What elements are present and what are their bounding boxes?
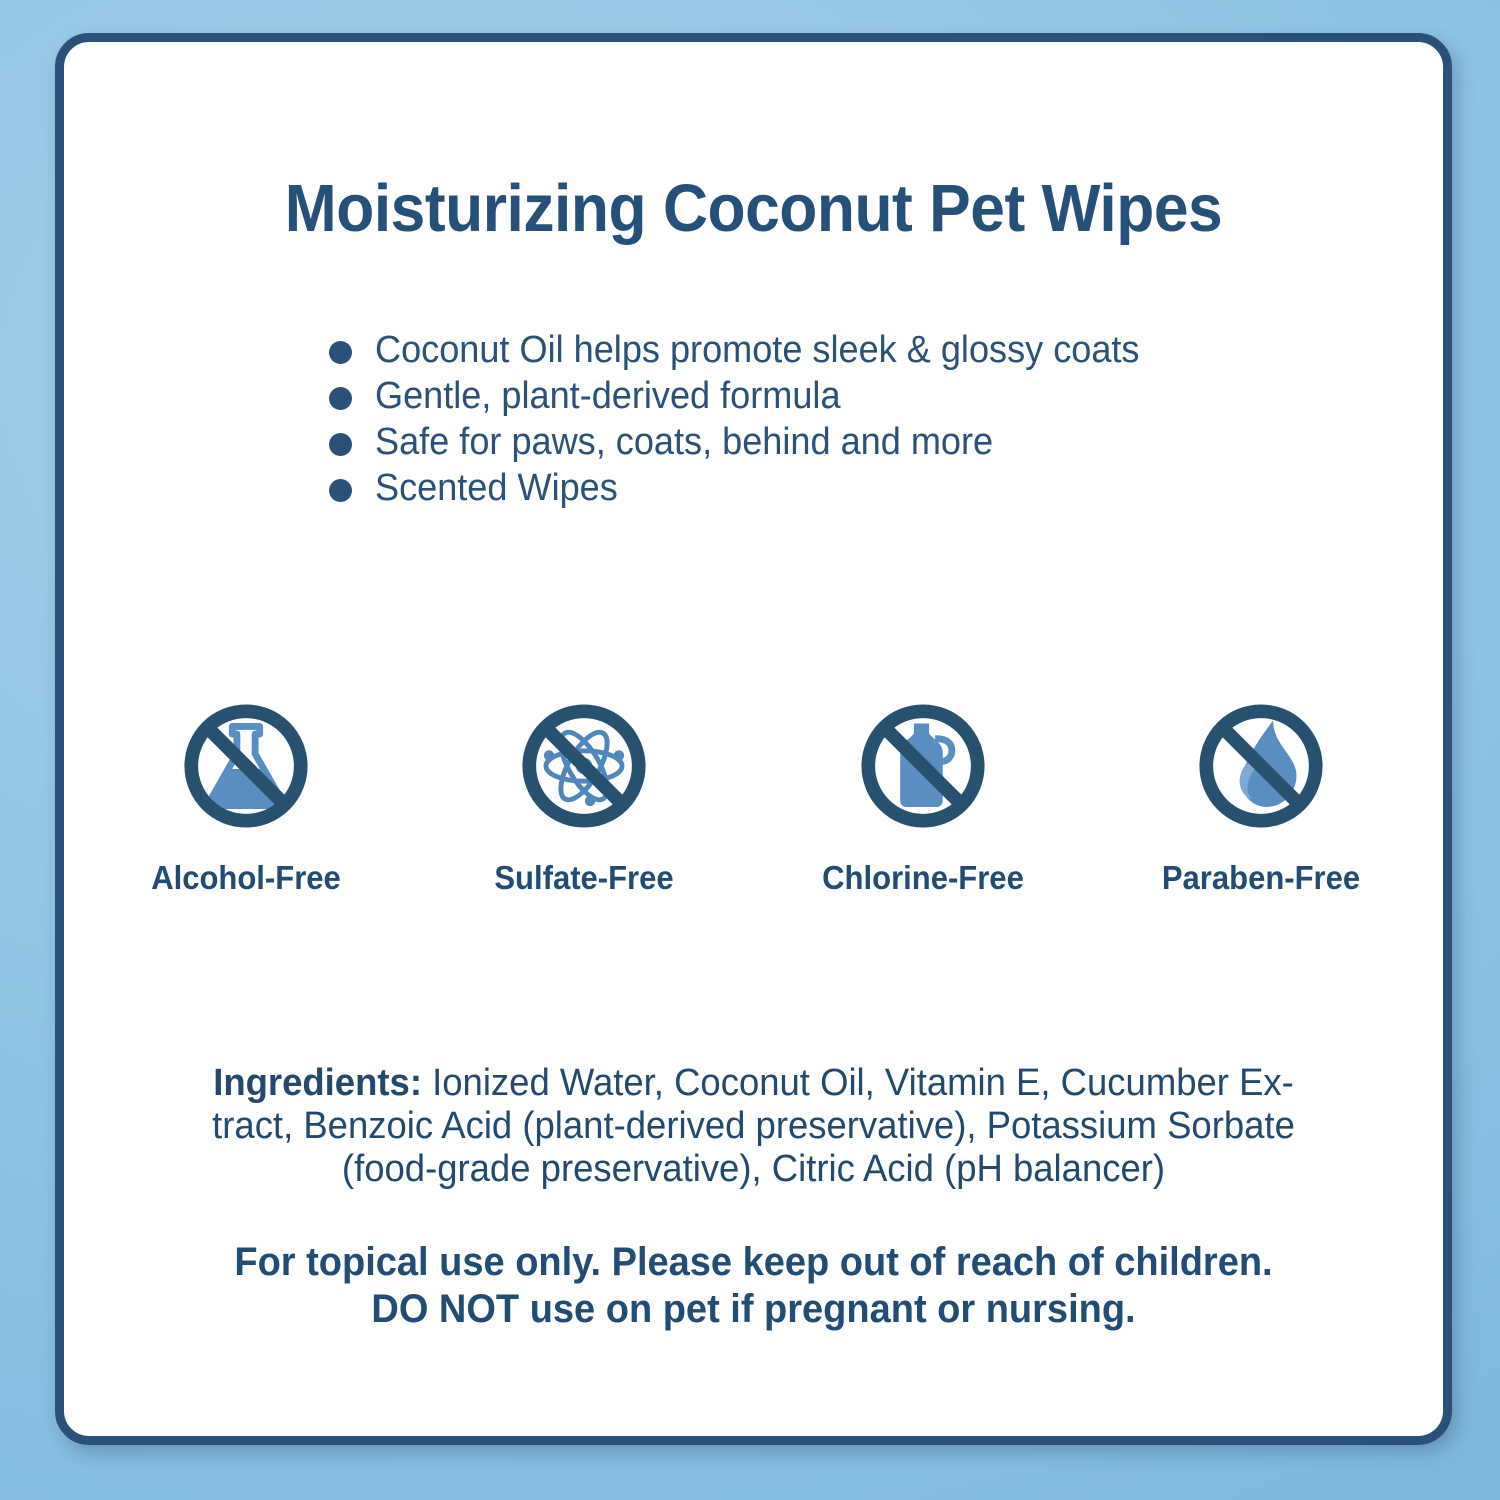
badge-chlorine-free: Chlorine-Free xyxy=(798,687,1048,897)
product-info-card: Moisturizing Coconut Pet Wipes Coconut O… xyxy=(55,33,1452,1445)
badge-label: Sulfate-Free xyxy=(467,859,702,897)
ingredients-heading: Ingredients: xyxy=(213,1062,422,1104)
list-item: Safe for paws, coats, behind and more xyxy=(329,420,1329,466)
badge-label: Chlorine-Free xyxy=(805,859,1040,897)
bullet-dot-icon xyxy=(329,387,352,410)
free-from-badges: Alcohol-Free xyxy=(121,687,1386,897)
benefit-label: Gentle, plant-derived formula xyxy=(375,374,841,418)
no-droplet-icon xyxy=(1136,687,1386,845)
bullet-dot-icon xyxy=(329,341,352,364)
benefit-label: Scented Wipes xyxy=(375,466,618,510)
bullet-dot-icon xyxy=(329,433,352,456)
no-atom-icon xyxy=(459,687,709,845)
no-flask-icon xyxy=(121,687,371,845)
list-item: Gentle, plant-derived formula xyxy=(329,374,1329,420)
ingredients-paragraph: Ingredients: Ionized Water, Coconut Oil,… xyxy=(207,1062,1300,1191)
list-item: Coconut Oil helps promote sleek & glossy… xyxy=(329,328,1329,374)
card-content: Moisturizing Coconut Pet Wipes Coconut O… xyxy=(64,42,1443,1436)
badge-label: Alcohol-Free xyxy=(129,859,364,897)
benefits-list: Coconut Oil helps promote sleek & glossy… xyxy=(329,328,1329,512)
bullet-dot-icon xyxy=(329,479,352,502)
warning-line-1: For topical use only. Please keep out of… xyxy=(193,1239,1313,1286)
badge-sulfate-free: Sulfate-Free xyxy=(459,687,709,897)
no-jug-icon xyxy=(798,687,1048,845)
warning-line-2: DO NOT use on pet if pregnant or nursing… xyxy=(193,1286,1313,1333)
badge-alcohol-free: Alcohol-Free xyxy=(121,687,371,897)
badge-paraben-free: Paraben-Free xyxy=(1136,687,1386,897)
warning-text: For topical use only. Please keep out of… xyxy=(193,1239,1313,1333)
list-item: Scented Wipes xyxy=(329,466,1329,512)
badge-label: Paraben-Free xyxy=(1143,859,1378,897)
page-title: Moisturizing Coconut Pet Wipes xyxy=(112,170,1394,247)
benefit-label: Coconut Oil helps promote sleek & glossy… xyxy=(375,328,1139,372)
benefit-label: Safe for paws, coats, behind and more xyxy=(375,420,993,464)
